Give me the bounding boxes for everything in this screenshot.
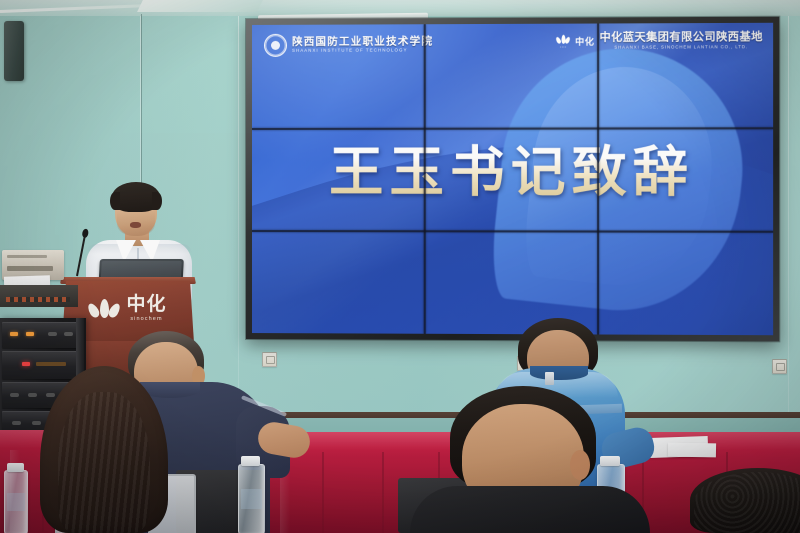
- conference-room-photo: 陕西国防工业职业技术学院 SHAANXI INSTITUTE OF TECHNO…: [0, 0, 800, 533]
- slide-right-logo: •••• 中化 中化蓝天集团有限公司陕西基地 SHAANXI BASE, SIN…: [557, 32, 763, 51]
- company-name-en: SHAANXI BASE, SINOCHEM LANTIAN CO., LTD.: [600, 45, 763, 50]
- bottle-cap: [600, 456, 620, 466]
- paper-on-table: [668, 443, 716, 458]
- sinochem-leaf-icon: [89, 299, 119, 318]
- wall-outlet[interactable]: [262, 352, 277, 367]
- audience-man-black-shirt: [410, 486, 650, 533]
- id-badge: [545, 372, 554, 385]
- panel-bezel-vertical: [424, 24, 426, 334]
- slide-headline: 王玉书记致辞: [252, 126, 773, 206]
- sinochem-mark-cn: 中化: [575, 35, 594, 48]
- presenter-mouth: [130, 222, 141, 228]
- wall-seam-line: [238, 0, 239, 420]
- wall-seam-line: [788, 0, 789, 470]
- university-name-en: SHAANXI INSTITUTE OF TECHNOLOGY: [292, 48, 433, 53]
- bottle-cap: [241, 456, 260, 466]
- wall-speaker-icon: [4, 21, 24, 81]
- podium-logo-en: sinochem: [130, 316, 162, 322]
- university-seal-icon: [264, 34, 287, 57]
- bottle-cap: [7, 463, 24, 472]
- ear: [570, 450, 590, 480]
- university-name-cn: 陕西国防工业职业技术学院: [292, 36, 433, 48]
- hanging-cable: [141, 14, 142, 184]
- workwear-collar: [530, 366, 588, 380]
- rack-amplifier[interactable]: [0, 285, 78, 307]
- water-bottle[interactable]: [238, 464, 265, 533]
- presenter-hair: [112, 182, 160, 212]
- video-wall-screen: 陕西国防工业职业技术学院 SHAANXI INSTITUTE OF TECHNO…: [252, 23, 773, 335]
- rack-unit[interactable]: [2, 351, 82, 379]
- panel-bezel-vertical: [597, 24, 599, 335]
- wall-outlet[interactable]: [772, 359, 787, 374]
- podium-logo-cn: 中化: [126, 295, 166, 314]
- rack-unit[interactable]: [2, 322, 82, 348]
- water-bottle[interactable]: [4, 470, 28, 533]
- sinochem-leaf-icon: ••••: [557, 35, 570, 49]
- ceiling-panel: [137, 0, 263, 12]
- video-wall-display[interactable]: 陕西国防工业职业技术学院 SHAANXI INSTITUTE OF TECHNO…: [246, 17, 779, 342]
- company-name-cn: 中化蓝天集团有限公司陕西基地: [600, 32, 763, 44]
- slide-left-logo: 陕西国防工业职业技术学院 SHAANXI INSTITUTE OF TECHNO…: [264, 33, 433, 57]
